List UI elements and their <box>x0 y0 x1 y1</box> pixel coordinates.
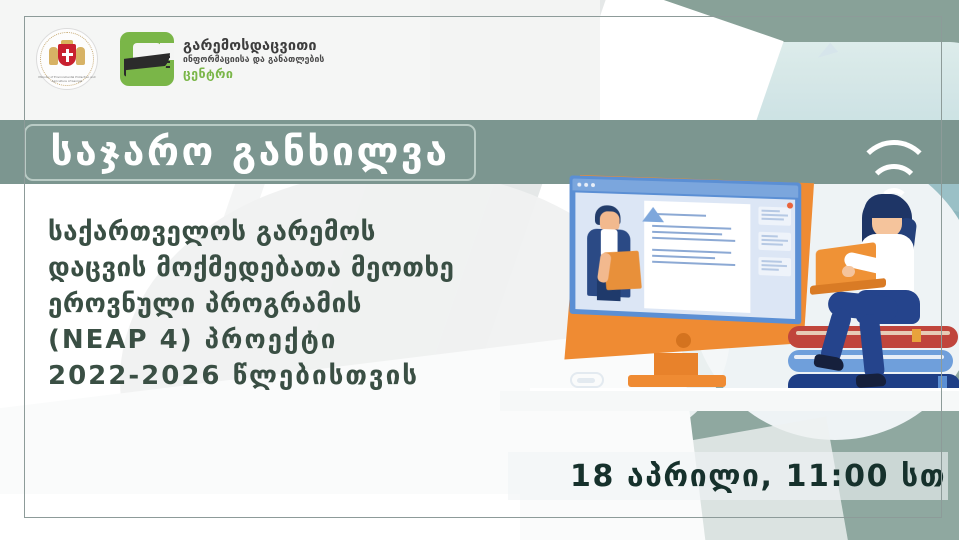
ministry-seal-icon: Ministry of Environmental Protection and… <box>36 28 98 90</box>
body-line-1: საქართველოს გარემოს <box>48 218 468 247</box>
bottom-white-edge <box>0 494 520 540</box>
ciec-logo: გარემოსდაცვითი ინფორმაციისა და განათლები… <box>120 32 324 86</box>
ciec-logo-line2: ინფორმაციისა და განათლების <box>183 55 324 65</box>
announcement-body: საქართველოს გარემოს დაცვის მოქმედებათა მ… <box>48 218 468 392</box>
event-datetime: 18 აპრილი, 11:00 სთ <box>570 459 946 494</box>
body-line-2: დაცვის მოქმედებათა მეოთხე <box>48 254 468 283</box>
document-preview <box>644 201 750 313</box>
paper-plane-icon <box>815 42 838 58</box>
body-line-4: (NEAP 4) პროექტი <box>48 326 468 355</box>
body-line-3: ეროვნული პროგრამის <box>48 290 468 319</box>
presenter-figure <box>575 192 642 312</box>
title-banner: საჯარო განხილვა <box>24 124 476 181</box>
seal-caption: Ministry of Environmental Protection and… <box>37 76 97 83</box>
ciec-mark-icon <box>120 32 174 86</box>
woman-with-laptop <box>822 190 952 390</box>
ciec-logo-line1: გარემოსდაცვითი <box>183 38 324 54</box>
poster: Ministry of Environmental Protection and… <box>0 0 959 540</box>
sidebar-cards <box>754 198 795 319</box>
illustration <box>540 140 959 440</box>
ciec-logo-line3: ცენტრი <box>183 66 324 81</box>
body-line-5: 2022-2026 წლებისთვის <box>48 362 468 391</box>
logo-row: Ministry of Environmental Protection and… <box>36 28 324 90</box>
desktop-monitor <box>554 175 814 380</box>
page-title: საჯარო განხილვა <box>50 130 449 175</box>
